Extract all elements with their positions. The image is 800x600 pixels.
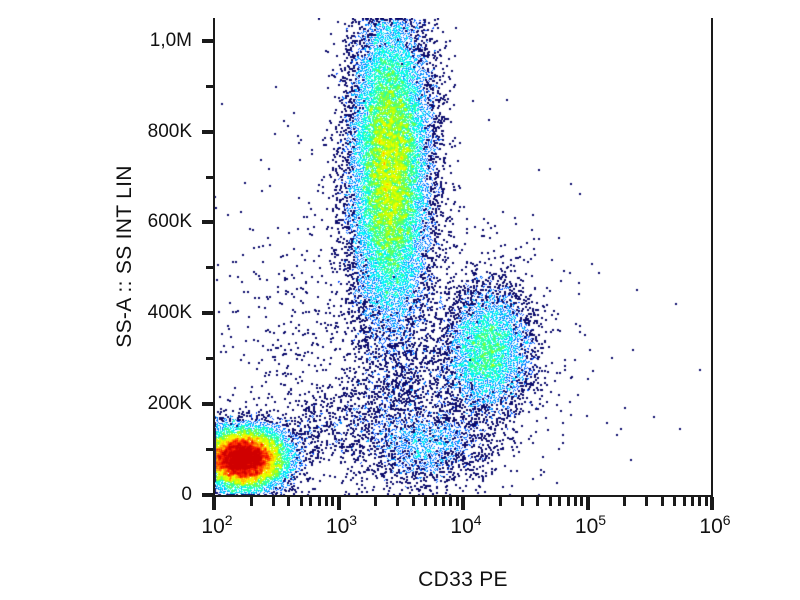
x-axis-tick-label: 106 [699, 515, 730, 539]
x-tick-exponent: 4 [474, 512, 482, 528]
x-tick-mantissa: 10 [326, 515, 349, 538]
x-axis-minor-tick [549, 497, 552, 506]
x-axis-minor-tick [673, 497, 676, 506]
y-axis-line [213, 18, 215, 497]
x-axis-minor-tick [698, 497, 701, 506]
y-axis-tick-label-text: 1,0M [132, 31, 192, 50]
x-axis-minor-tick [580, 497, 583, 506]
flow-cytometry-figure: 0200K400K600K800K1,0M 102103104105106 SS… [0, 0, 800, 600]
x-axis-minor-tick [661, 497, 664, 506]
y-axis-minor-tick [206, 266, 214, 269]
x-axis-major-tick [212, 497, 216, 510]
y-axis-major-tick [202, 39, 214, 43]
x-axis-minor-tick [449, 497, 452, 506]
y-axis-minor-tick [206, 357, 214, 360]
x-tick-mantissa: 10 [699, 515, 722, 538]
x-axis-minor-tick [325, 497, 328, 506]
y-axis-tick-label-text: 0 [132, 485, 192, 504]
x-axis-minor-tick [318, 497, 321, 506]
x-tick-exponent: 2 [225, 512, 233, 528]
x-axis-minor-tick [287, 497, 290, 506]
x-axis-major-tick [586, 497, 590, 510]
right-axis-line [711, 18, 713, 497]
y-axis-major-tick [202, 220, 214, 224]
x-axis-minor-tick [499, 497, 502, 506]
x-axis-major-tick [461, 497, 465, 510]
x-axis-tick-label: 105 [575, 515, 606, 539]
x-tick-exponent: 6 [723, 512, 731, 528]
x-axis-minor-tick [623, 497, 626, 506]
density-scatter-canvas [214, 18, 712, 495]
y-axis-tick-label-text: 200K [132, 394, 192, 413]
y-axis-major-tick [202, 311, 214, 315]
x-axis-tick-label: 103 [326, 515, 357, 539]
x-axis-tick-label: 102 [201, 515, 232, 539]
x-tick-mantissa: 10 [575, 515, 598, 538]
y-axis-minor-tick [206, 448, 214, 451]
scatter-plot-area [214, 18, 712, 495]
x-axis-minor-tick [442, 497, 445, 506]
x-axis-minor-tick [424, 497, 427, 506]
x-axis-minor-tick [374, 497, 377, 506]
x-axis-major-tick [337, 497, 341, 510]
y-axis-minor-tick [206, 85, 214, 88]
y-axis-tick-label-text: 800K [132, 122, 192, 141]
x-axis-minor-tick [567, 497, 570, 506]
y-axis-tick-label-text: 400K [132, 303, 192, 322]
x-axis-minor-tick [434, 497, 437, 506]
y-axis-tick-label-text: 600K [132, 212, 192, 231]
x-axis-minor-tick [683, 497, 686, 506]
y-axis-major-tick [202, 130, 214, 134]
x-axis-minor-tick [705, 497, 708, 506]
x-axis-minor-tick [691, 497, 694, 506]
y-axis-title: SS-A :: SS INT LIN [110, 18, 140, 495]
x-axis-minor-tick [300, 497, 303, 506]
x-axis-minor-tick [396, 497, 399, 506]
x-axis-title: CD33 PE [214, 568, 712, 592]
x-axis-minor-tick [574, 497, 577, 506]
x-axis-minor-tick [521, 497, 524, 506]
x-axis-minor-tick [309, 497, 312, 506]
x-axis-minor-tick [412, 497, 415, 506]
x-tick-exponent: 3 [349, 512, 357, 528]
x-axis-minor-tick [456, 497, 459, 506]
x-axis-minor-tick [272, 497, 275, 506]
x-axis-minor-tick [645, 497, 648, 506]
x-tick-exponent: 5 [598, 512, 606, 528]
x-axis-major-tick [710, 497, 714, 510]
x-axis-minor-tick [331, 497, 334, 506]
x-axis-tick-label: 104 [450, 515, 481, 539]
y-axis-major-tick [202, 402, 214, 406]
x-axis-minor-tick [558, 497, 561, 506]
x-tick-mantissa: 10 [450, 515, 473, 538]
x-axis-minor-tick [250, 497, 253, 506]
x-axis-minor-tick [536, 497, 539, 506]
x-tick-mantissa: 10 [201, 515, 224, 538]
y-axis-minor-tick [206, 176, 214, 179]
